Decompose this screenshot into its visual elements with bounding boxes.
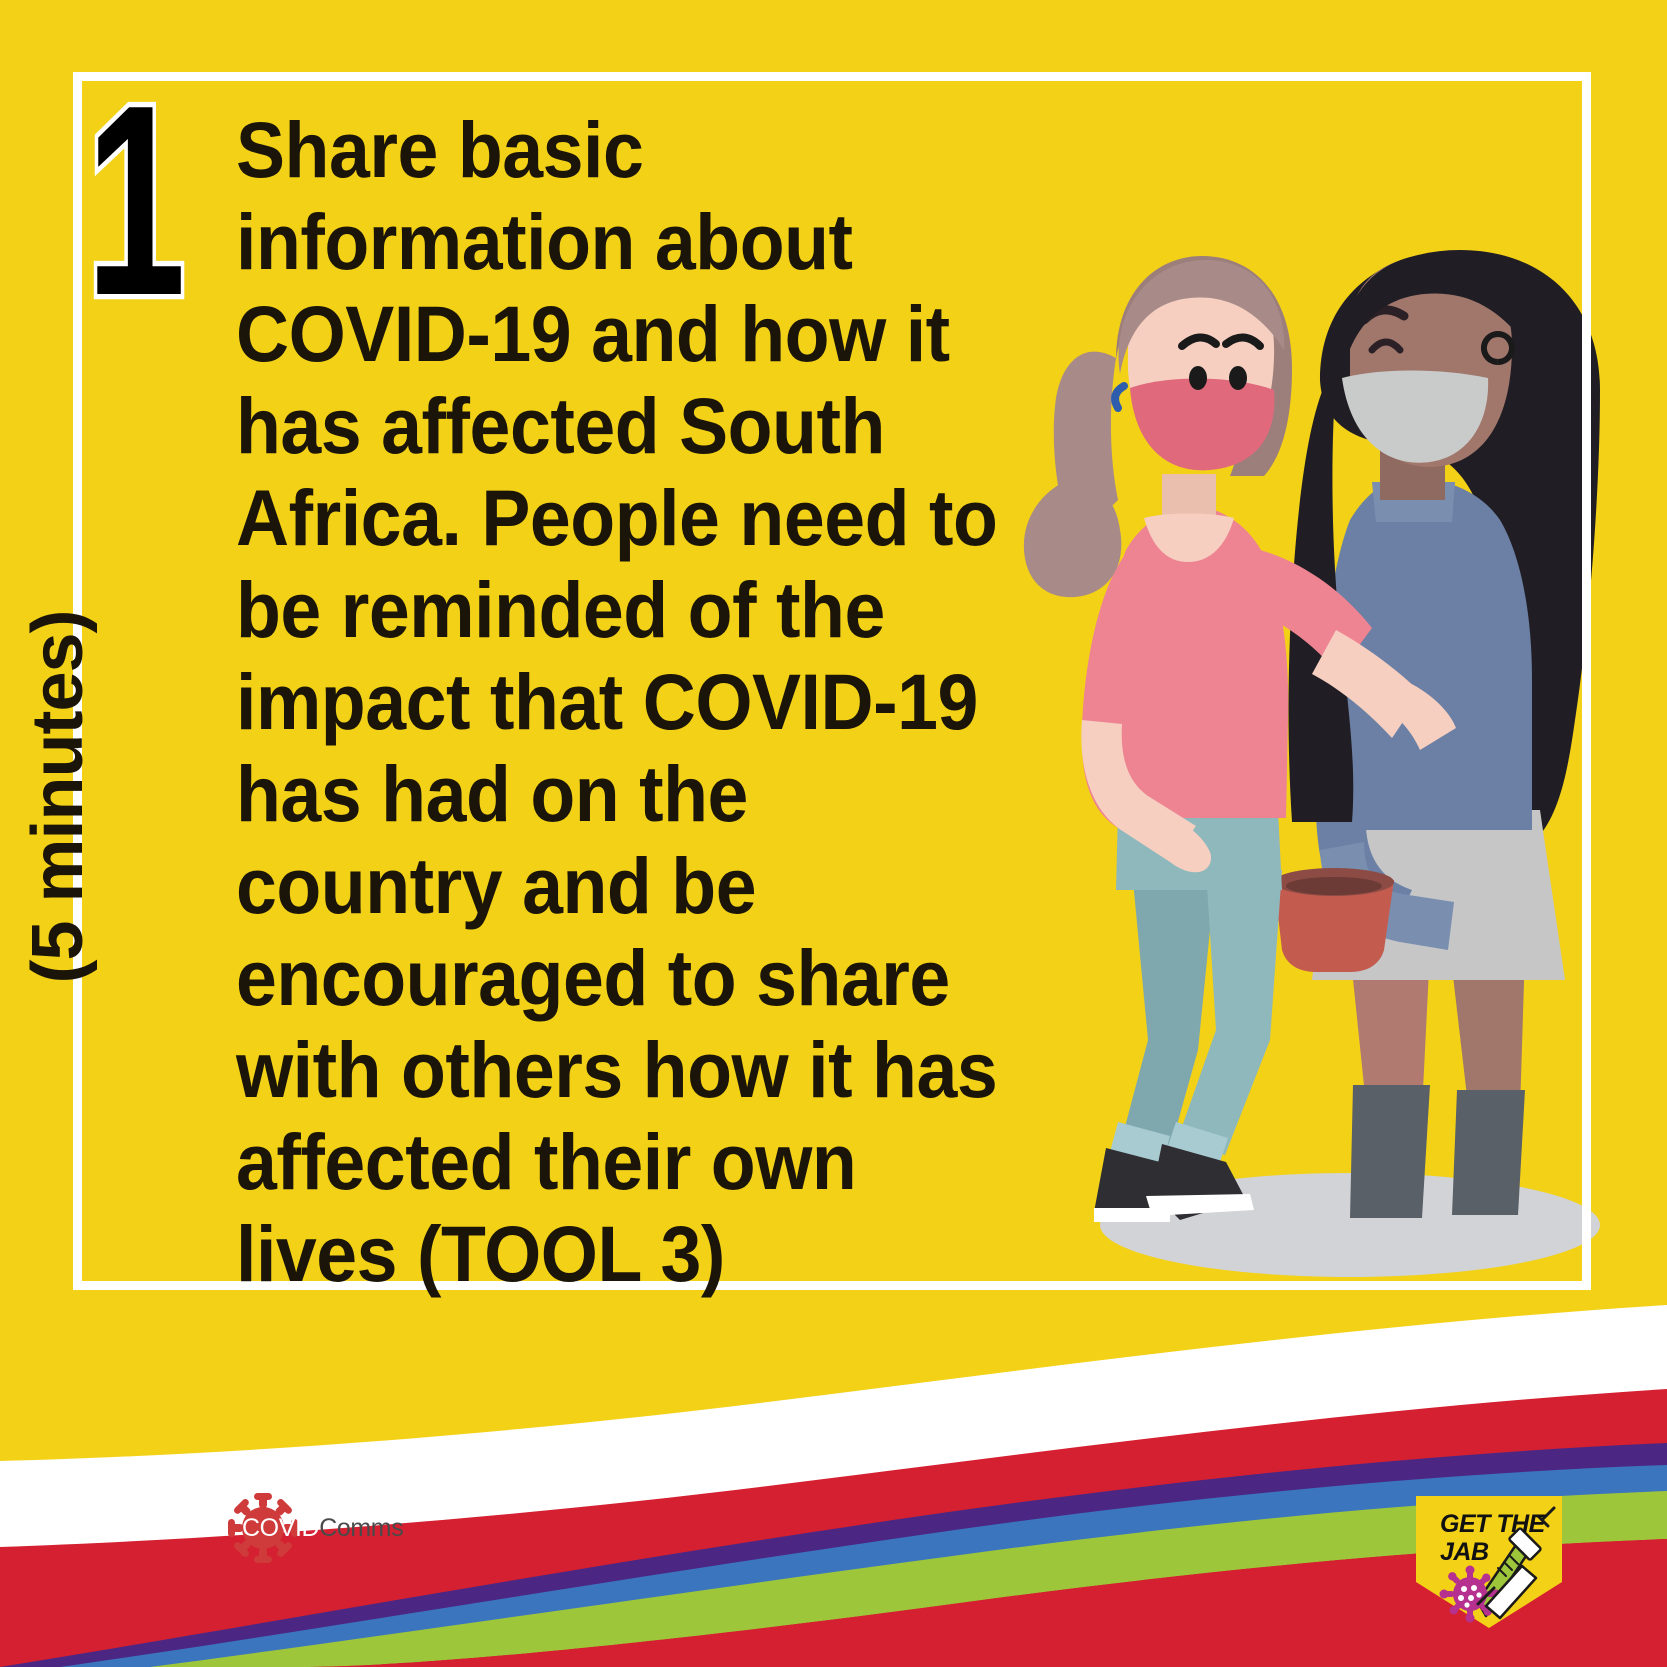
logo-text-comms: Comms [319, 1514, 403, 1542]
logo-text-covid: COVID [242, 1514, 319, 1542]
badge-line1: GET THE [1440, 1510, 1547, 1538]
step-number: 1 [86, 78, 184, 322]
left-woman-eye-left [1189, 366, 1207, 390]
poster-root: 1 (5 minutes) Share basic information ab… [0, 0, 1667, 1667]
get-the-jab-badge[interactable]: GET THE JAB [1414, 1496, 1564, 1636]
badge-line2: JAB [1440, 1538, 1489, 1566]
right-woman-boot-near [1350, 1085, 1430, 1218]
step-body-text: Share basic information about COVID-19 a… [236, 104, 1008, 1300]
covidcomms-logo: COVIDComms [228, 1487, 408, 1567]
right-woman-boot-far [1452, 1090, 1525, 1215]
two-women-illustration [1020, 250, 1620, 1310]
left-woman-mask-strap [1115, 386, 1124, 408]
duration-label: (5 minutes) [17, 557, 99, 1037]
covidcomms-wordmark: COVIDComms [242, 1514, 403, 1543]
left-woman-eye-right [1229, 366, 1247, 390]
